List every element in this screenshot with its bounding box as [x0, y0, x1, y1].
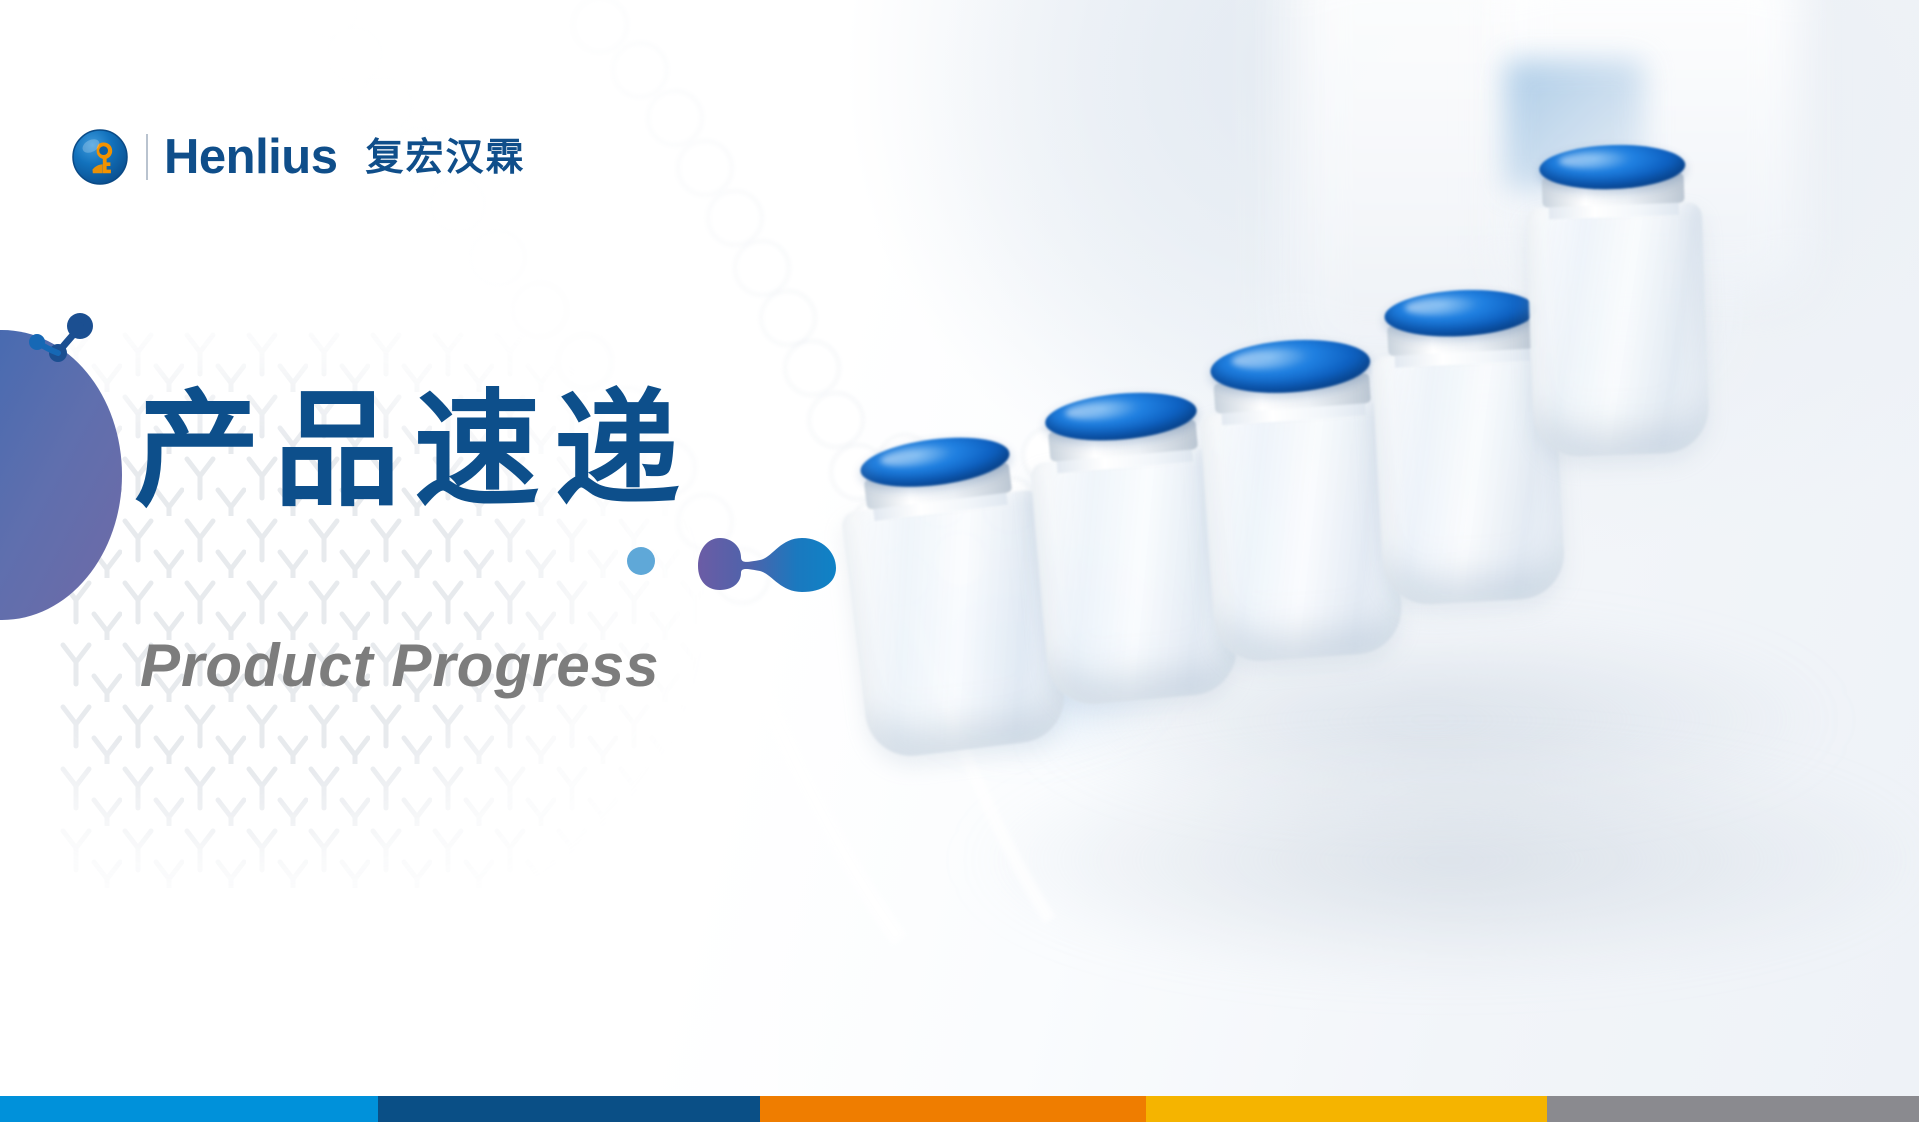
- henlius-logo-mark-icon: [72, 129, 128, 185]
- bottom-bar-segment-orange: [760, 1096, 1146, 1122]
- vial-5: [1526, 202, 1711, 458]
- molecule-icon: [28, 312, 98, 362]
- logo-chinese-name: 复宏汉霖: [365, 138, 525, 176]
- henlius-logo[interactable]: Henlius 复宏汉霖: [72, 126, 526, 188]
- presentation-slide: Henlius 复宏汉霖 产品速递 Product Progress: [0, 0, 1919, 1122]
- bottom-bar-segment-gray: [1547, 1096, 1919, 1122]
- vial-5-glass: [1526, 202, 1711, 458]
- molecule-dumbbell-icon: [694, 528, 842, 594]
- logo-divider: [146, 134, 148, 180]
- logo-wordmark: Henlius: [164, 133, 337, 182]
- vial-3: [1200, 402, 1405, 665]
- page-title: 产品速递: [134, 372, 694, 530]
- accent-dot: [627, 547, 655, 575]
- bottom-bar-segment-light-blue: [0, 1096, 378, 1122]
- vial-3-glass: [1200, 402, 1405, 665]
- bottom-bar-segment-amber: [1146, 1096, 1547, 1122]
- bottom-color-bar: [0, 1096, 1919, 1122]
- bottom-bar-segment-dark-blue: [378, 1096, 760, 1122]
- page-subtitle: Product Progress: [140, 636, 659, 696]
